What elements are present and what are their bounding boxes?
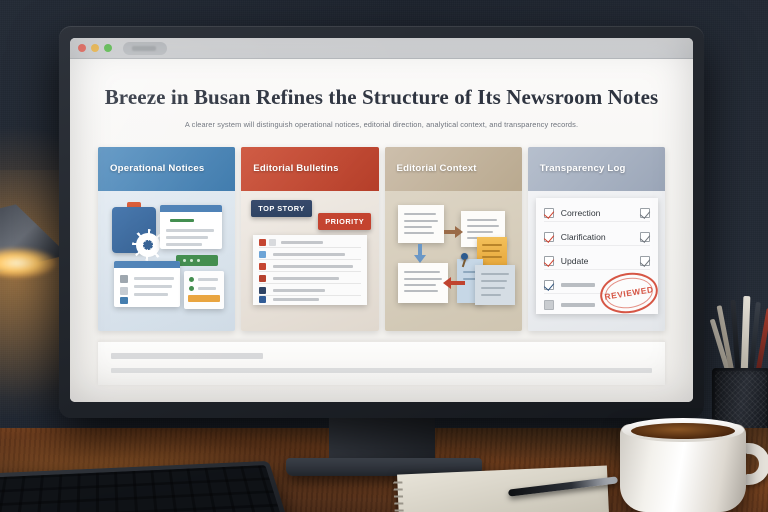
checkbox-correction[interactable]	[544, 208, 554, 218]
screen: Breeze in Busan Refines the Structure of…	[70, 38, 693, 402]
window-mockup	[160, 205, 222, 249]
check-icon	[189, 286, 194, 291]
checklist-label-clarification: Clarification	[561, 232, 606, 242]
card-title-operational-notices: Operational Notices	[98, 147, 235, 191]
checklist-row-clarification[interactable]: Clarification	[544, 228, 650, 246]
window-titlebar	[160, 205, 222, 212]
badge-top-story: TOP STORY	[251, 200, 312, 217]
pin-icon	[461, 253, 468, 260]
avatar	[120, 297, 128, 304]
card-body-transparency-log: Correction Clarification	[528, 191, 665, 331]
avatar	[120, 275, 128, 283]
card-title-editorial-bulletins: Editorial Bulletins	[241, 147, 378, 191]
document-node	[398, 205, 444, 243]
card-body-editorial-context	[385, 191, 522, 331]
window-mockup	[114, 261, 180, 307]
footer-placeholder-bar	[111, 368, 652, 373]
status-badge-green	[176, 255, 218, 266]
checkbox-clarification[interactable]	[544, 232, 554, 242]
checkbox-placeholder[interactable]	[544, 300, 554, 310]
bulletin-list	[253, 235, 367, 305]
close-window-button[interactable]	[78, 44, 86, 52]
footer-placeholder-bar	[111, 353, 263, 359]
window-titlebar	[114, 261, 180, 268]
checkbox-update[interactable]	[544, 256, 554, 266]
checklist-row-correction[interactable]: Correction	[544, 204, 650, 222]
browser-tab-label	[132, 46, 156, 51]
checkbox-correction-confirm[interactable]	[640, 208, 650, 218]
browser-tab[interactable]	[123, 42, 167, 55]
card-body-editorial-bulletins: TOP STORY PRIORITY	[241, 191, 378, 331]
avatar	[120, 287, 128, 295]
list-item	[259, 238, 361, 248]
checkbox-update-confirm[interactable]	[640, 256, 650, 266]
card-title-transparency-log: Transparency Log	[528, 147, 665, 191]
text-line	[134, 277, 174, 280]
card-transparency-log[interactable]: Transparency Log Correction	[528, 147, 665, 331]
clipboard-icon	[112, 207, 156, 253]
monitor: Breeze in Busan Refines the Structure of…	[59, 26, 704, 418]
text-line	[166, 236, 208, 239]
text-line	[170, 219, 194, 222]
card-operational-notices[interactable]: Operational Notices	[98, 147, 235, 331]
card-title-editorial-context: Editorial Context	[385, 147, 522, 191]
list-item	[259, 250, 361, 260]
gear-icon	[136, 233, 160, 257]
text-line	[198, 287, 216, 290]
minimize-window-button[interactable]	[91, 44, 99, 52]
desk-scene: Breeze in Busan Refines the Structure of…	[0, 0, 768, 512]
placeholder-bar	[561, 283, 595, 287]
text-line	[166, 243, 202, 246]
text-line	[166, 229, 214, 232]
page-content: Breeze in Busan Refines the Structure of…	[70, 59, 693, 402]
check-icon	[189, 277, 194, 282]
checkbox-clarification-confirm[interactable]	[640, 232, 650, 242]
list-item	[259, 262, 361, 272]
browser-chrome	[70, 38, 693, 59]
checklist-label-correction: Correction	[561, 208, 601, 218]
page-subtitle: A clearer system will distinguish operat…	[92, 120, 671, 129]
list-item	[259, 274, 361, 284]
text-line	[198, 278, 218, 281]
maximize-window-button[interactable]	[104, 44, 112, 52]
action-button[interactable]	[188, 295, 220, 302]
page-title: Breeze in Busan Refines the Structure of…	[92, 85, 671, 110]
checklist-row-update[interactable]: Update	[544, 252, 650, 270]
page-footer	[98, 341, 665, 385]
text-line	[134, 285, 172, 288]
placeholder-bar	[561, 303, 595, 307]
checklist-card	[184, 271, 224, 309]
card-editorial-bulletins[interactable]: Editorial Bulletins TOP STORY PRIORITY	[241, 147, 378, 331]
coffee-surface	[631, 423, 735, 439]
checklist-label-update: Update	[561, 256, 589, 266]
document-node	[398, 263, 448, 303]
text-line	[134, 293, 168, 296]
badge-priority: PRIORITY	[318, 213, 371, 230]
document-node	[475, 265, 515, 305]
notepad	[397, 465, 609, 512]
card-body-operational-notices	[98, 191, 235, 331]
list-item	[259, 295, 361, 305]
checkbox-placeholder[interactable]	[544, 280, 554, 290]
card-editorial-context[interactable]: Editorial Context	[385, 147, 522, 331]
card-row: Operational Notices	[92, 147, 671, 331]
